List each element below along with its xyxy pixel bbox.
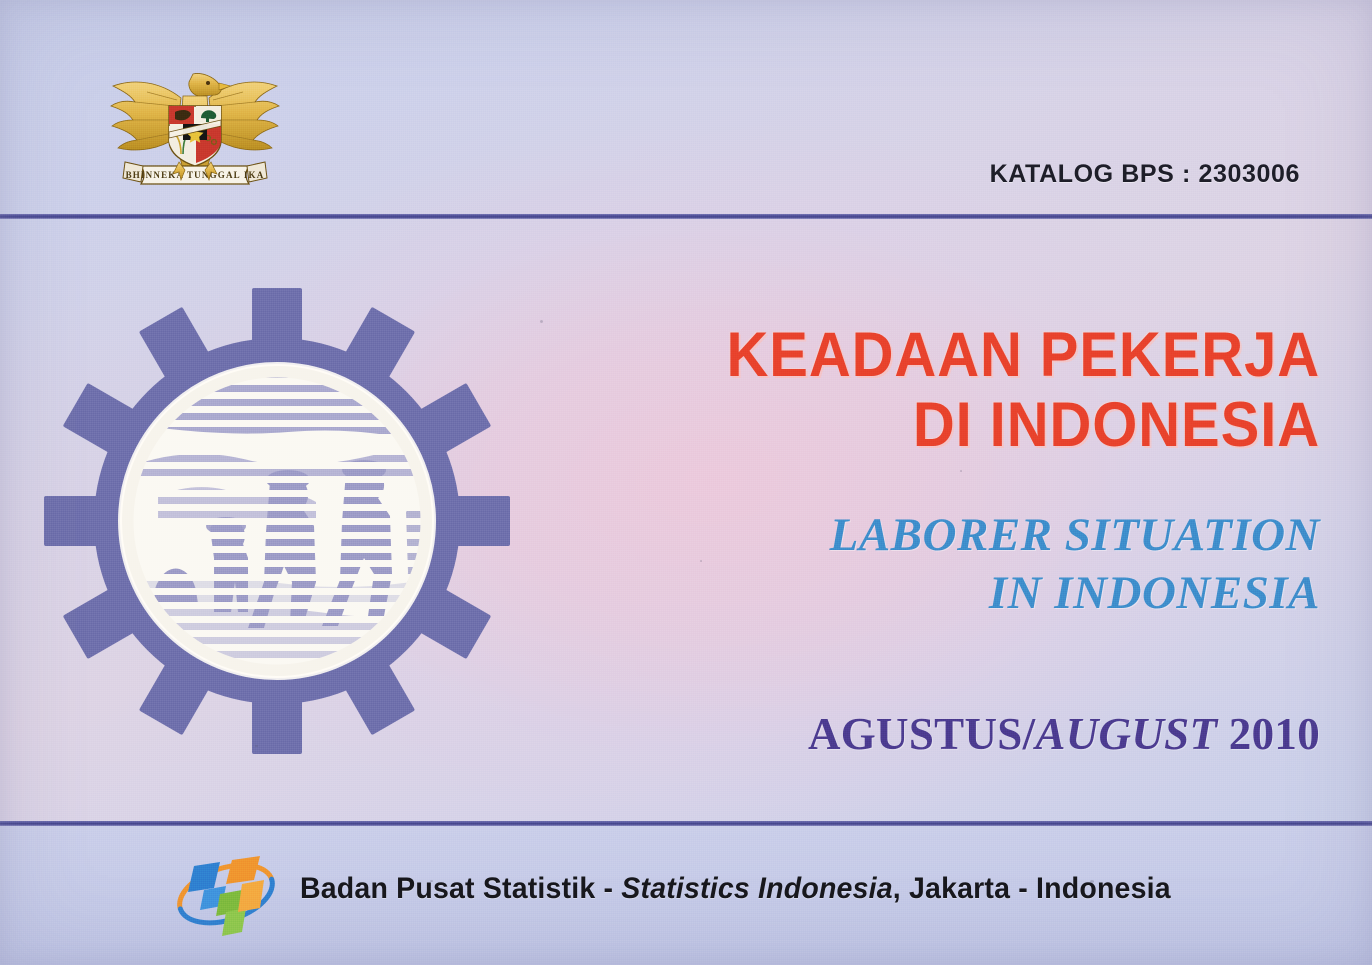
publisher-location: , Jakarta - Indonesia (893, 872, 1171, 905)
garuda-pancasila-emblem: BHINNEKA TUNGGAL IKA (95, 62, 295, 197)
publisher-name-id: Badan Pusat Statistik - (300, 872, 621, 905)
publisher-name-en: Statistics Indonesia (621, 872, 892, 905)
subtitle-line1: LABORER SITUATION (830, 509, 1320, 561)
main-title: KEADAAN PEKERJA DI INDONESIA (694, 320, 1320, 460)
book-cover-page: BHINNEKA TUNGGAL IKA KATALOG BPS : 23030… (0, 0, 1372, 965)
svg-text:BHINNEKA TUNGGAL IKA: BHINNEKA TUNGGAL IKA (126, 170, 265, 180)
catalog-number: KATALOG BPS : 2303006 (990, 160, 1300, 189)
divider-top (0, 214, 1372, 219)
main-title-line2: DI INDONESIA (694, 390, 1320, 460)
publisher-line: Badan Pusat Statistik - Statistics Indon… (300, 872, 1171, 906)
main-title-line1: KEADAAN PEKERJA (727, 320, 1320, 390)
title-block: KEADAAN PEKERJA DI INDONESIA LABORER SIT… (640, 320, 1320, 760)
subtitle: LABORER SITUATION IN INDONESIA (640, 506, 1320, 622)
edition-date: AGUSTUS/AUGUST 2010 (640, 708, 1320, 760)
edition-date-italic: AUGUST (1035, 709, 1217, 759)
subtitle-line2: IN INDONESIA (640, 564, 1320, 622)
edition-date-year: 2010 (1217, 709, 1320, 759)
edition-date-prefix: AGUSTUS/ (808, 709, 1035, 759)
bps-logo (168, 848, 284, 940)
gear-workers-emblem (38, 282, 516, 760)
publisher-footer: Badan Pusat Statistik - Statistics Indon… (0, 826, 1372, 965)
